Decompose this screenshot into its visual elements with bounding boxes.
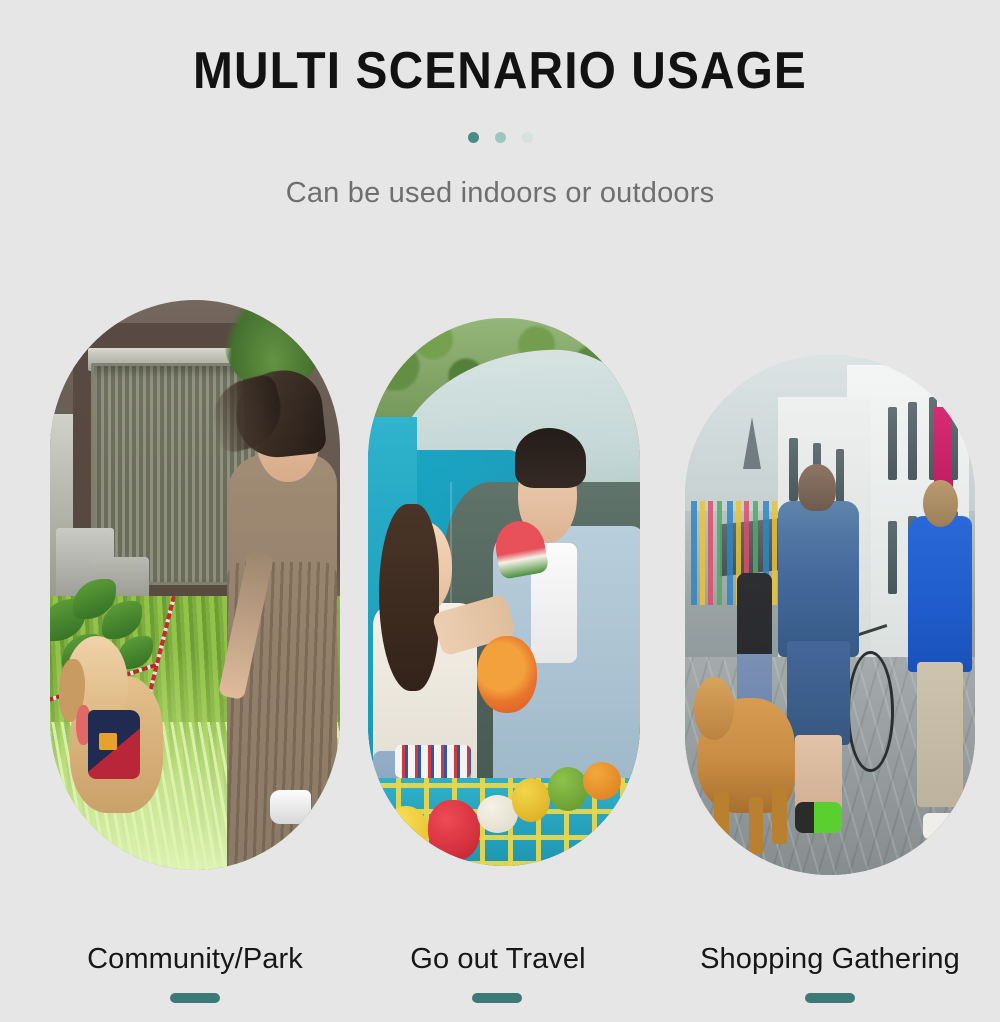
caption-go-out-travel: Go out Travel (348, 943, 648, 976)
caption-shopping-gathering: Shopping Gathering (672, 943, 988, 976)
photo-shopping-gathering (685, 355, 975, 875)
caption-community-park: Community/Park (45, 943, 345, 976)
underline-bar-community-park (170, 993, 220, 1003)
scenario-card-go-out-travel[interactable] (368, 318, 640, 866)
photo-go-out-travel (368, 318, 640, 866)
promo-page: MULTI SCENARIO USAGE Can be used indoors… (0, 0, 1000, 1022)
photo-community-park (50, 300, 340, 870)
scenario-card-community-park[interactable] (50, 300, 340, 870)
underline-bar-go-out-travel (472, 993, 522, 1003)
scenario-card-shopping-gathering[interactable] (685, 355, 975, 875)
scenario-card-list (0, 0, 1000, 1022)
underline-bar-shopping-gathering (805, 993, 855, 1003)
